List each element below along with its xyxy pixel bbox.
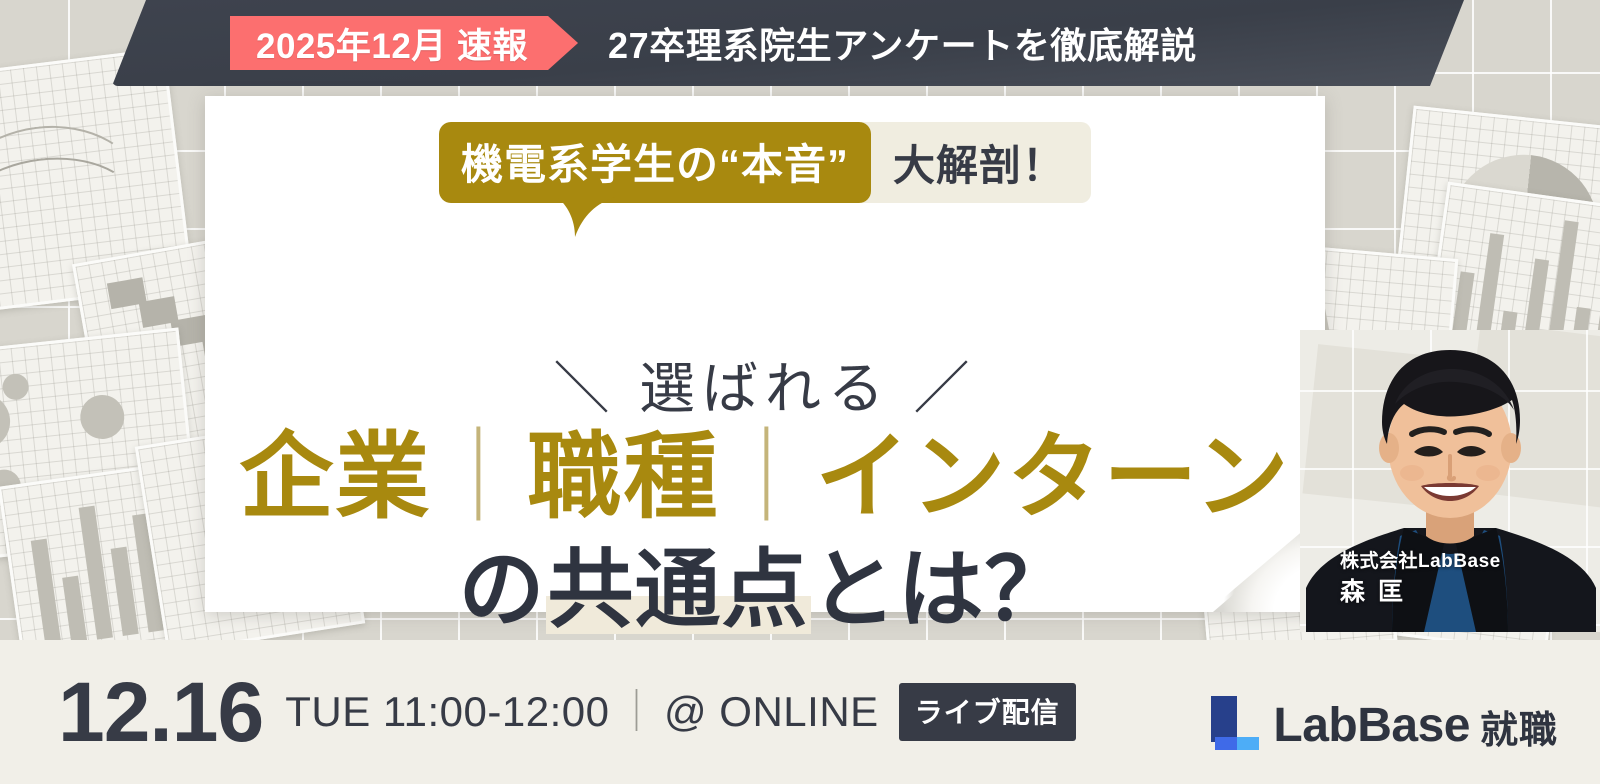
headline-separator-1: ｜	[431, 424, 527, 529]
footer-divider: ｜	[609, 688, 664, 735]
webinar-banner: 2025年12月 速報 27卒理系院生アンケートを徹底解説 大解剖！ 機電系学生…	[0, 0, 1600, 784]
speech-bubble-tail-icon	[557, 197, 619, 237]
hero-card: 大解剖！ 機電系学生の“本音” ＼ 選ばれる ／ 企業｜職種｜インターン の共通…	[205, 96, 1325, 612]
labbase-logo-suffix: 就職	[1480, 712, 1558, 750]
speaker-company: 株式会社LabBase	[1340, 549, 1501, 575]
event-day-time: TUE 11:00-12:00	[285, 688, 609, 735]
header-title: 27卒理系院生アンケートを徹底解説	[608, 17, 1197, 69]
footer-bar: 12.16 TUE 11:00-12:00｜@ ONLINE ライブ配信 Lab…	[0, 640, 1600, 784]
hero-bubble-row: 大解剖！ 機電系学生の“本音”	[205, 122, 1325, 203]
event-time-venue: TUE 11:00-12:00｜@ ONLINE	[285, 691, 878, 733]
event-venue: @ ONLINE	[664, 688, 879, 735]
labbase-logo-text: LabBase	[1273, 702, 1470, 750]
hero-bubble-suffix: 大解剖！	[893, 132, 1065, 193]
live-stream-badge: ライブ配信	[899, 683, 1076, 741]
hero-speech-bubble: 機電系学生の“本音”	[439, 122, 871, 203]
hero-kicker: ＼ 選ばれる ／	[205, 344, 1325, 425]
speaker-photo: 株式会社LabBase 森 匡	[1300, 330, 1600, 632]
speaker-name: 森 匡	[1340, 576, 1501, 609]
labbase-logo: LabBase 就職	[1211, 696, 1558, 750]
headline-line2-suffix: とは？	[811, 542, 1072, 638]
headline-part-company: 企業	[239, 424, 431, 529]
speaker-info: 株式会社LabBase 森 匡	[1340, 549, 1501, 608]
header-tag-label: 2025年12月 速報	[256, 18, 528, 69]
event-date: 12.16	[58, 670, 263, 754]
headline-line2-prefix: の	[459, 542, 546, 638]
hero-bubble-label: 機電系学生の“本音”	[461, 131, 849, 192]
hero-headline-line1: 企業｜職種｜インターン	[205, 426, 1325, 528]
headline-line2-highlight: 共通点	[546, 542, 811, 638]
hero-bubble-suffix-box: 大解剖！	[861, 122, 1091, 203]
headline-part-internship: インターン	[815, 424, 1290, 529]
headline-separator-2: ｜	[719, 424, 815, 529]
labbase-logo-mark-icon	[1211, 696, 1257, 750]
headline-part-jobtype: 職種	[527, 424, 719, 529]
hero-headline-line2: の共通点とは？	[205, 543, 1325, 638]
header-date-tag: 2025年12月 速報	[230, 16, 578, 70]
header-ribbon: 2025年12月 速報 27卒理系院生アンケートを徹底解説	[112, 0, 1464, 86]
